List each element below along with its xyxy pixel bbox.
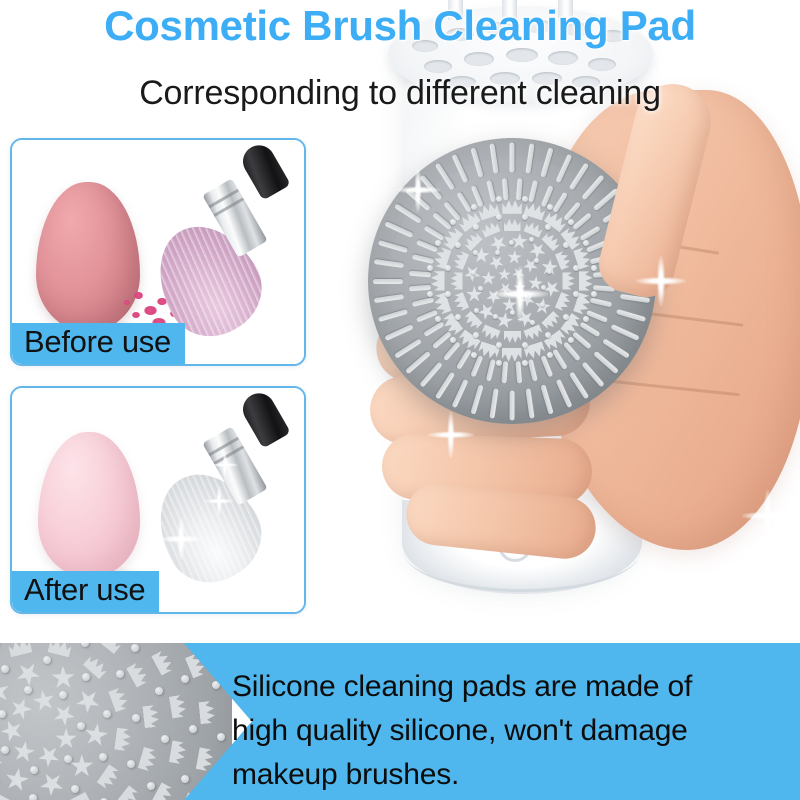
pad-dot-nub: [529, 237, 534, 242]
texture-star-nub: [29, 687, 58, 716]
texture-star-nub: [7, 695, 34, 722]
powder-residue: [124, 300, 130, 305]
texture-dot-nub: [155, 687, 163, 695]
pad-dot-nub: [445, 291, 451, 297]
page-subtitle: Corresponding to different cleaning: [0, 74, 800, 113]
texture-dot-nub: [43, 656, 51, 664]
texture-dot-nub: [71, 785, 79, 793]
texture-crown-nub: [108, 687, 130, 713]
texture-star-nub: [12, 740, 37, 765]
powder-residue: [134, 292, 143, 299]
texture-dot-nub: [1, 665, 9, 673]
pad-dot-nub: [450, 337, 456, 343]
banner-line-3: makeup brushes.: [232, 753, 772, 797]
bottom-feature-banner: Silicone cleaning pads are made of high …: [0, 643, 800, 800]
texture-star-nub: [48, 663, 78, 693]
texture-star-nub: [72, 684, 105, 717]
texture-crown-nub: [115, 728, 133, 752]
texture-dot-nub: [82, 673, 90, 681]
texture-dot-nub: [161, 735, 169, 743]
texture-crown-nub: [65, 792, 91, 800]
texture-crown-nub: [137, 747, 157, 772]
beauty-sponge-clean: [38, 432, 140, 578]
card-label-after: After use: [12, 571, 159, 612]
pad-dot-nub: [522, 360, 528, 366]
texture-dot-nub: [59, 691, 67, 699]
beauty-sponge-dirty: [36, 182, 140, 332]
texture-crown-nub: [151, 649, 175, 675]
texture-dot-nub: [116, 670, 124, 678]
texture-star-nub: [0, 676, 14, 708]
pad-ray: [510, 142, 515, 172]
pad-dot-nub: [473, 224, 479, 230]
texture-star-nub: [70, 754, 94, 778]
pad-dot-nub: [541, 285, 546, 290]
texture-dot-nub: [0, 710, 6, 718]
texture-crown-nub: [96, 764, 121, 791]
texture-crown-nub: [143, 704, 160, 728]
pad-dot-nub: [547, 352, 553, 358]
silicone-texture-thumbnail: [0, 643, 232, 800]
pad-dot-nub: [473, 332, 479, 338]
pad-dot-nub: [563, 242, 569, 248]
texture-crown-nub: [8, 643, 33, 657]
texture-dot-nub: [30, 766, 38, 774]
pad-dot-nub: [591, 291, 597, 297]
texture-star-nub: [0, 716, 27, 746]
pad-dot-nub: [435, 316, 441, 322]
card-label-before: Before use: [12, 323, 185, 364]
pad-dot-nub: [591, 265, 597, 271]
texture-dot-nub: [77, 722, 85, 730]
texture-dot-nub: [217, 733, 225, 741]
texture-crown-nub: [199, 700, 216, 723]
pad-dot-nub: [496, 360, 502, 366]
pad-dot-nub: [427, 265, 433, 271]
pad-dot-nub: [496, 196, 502, 202]
texture-dot-nub: [24, 686, 32, 694]
texture-crown-nub: [48, 643, 73, 658]
texture-dot-nub: [99, 753, 107, 761]
texture-dot-nub: [81, 643, 89, 647]
texture-dot-nub: [103, 710, 111, 718]
pad-dot-nub: [530, 320, 535, 325]
hand-holding-pad: [340, 60, 800, 580]
comparison-card-after: After use: [10, 386, 306, 614]
texture-dot-nub: [181, 675, 189, 683]
pad-dot-nub: [522, 214, 528, 220]
pad-dot-nub: [455, 242, 461, 248]
texture-crown-nub: [169, 694, 187, 718]
texture-star-nub: [33, 740, 64, 771]
pad-dot-nub: [547, 204, 553, 210]
comparison-card-before: Before use: [10, 138, 306, 366]
texture-dot-nub: [131, 644, 139, 652]
banner-line-1: Silicone cleaning pads are made of: [232, 665, 772, 709]
pad-dot-nub: [474, 308, 479, 313]
texture-star-nub: [55, 728, 77, 750]
pad-dot-nub: [568, 219, 574, 225]
texture-crown-nub: [126, 661, 150, 688]
texture-dot-nub: [64, 755, 72, 763]
pad-dot-nub: [509, 240, 514, 245]
texture-dot-nub: [189, 725, 197, 733]
texture-dot-nub: [181, 775, 189, 783]
makeup-brush-clean: [154, 392, 304, 592]
pad-dot-nub: [427, 291, 433, 297]
pad-ray: [510, 390, 515, 420]
texture-star-nub: [4, 767, 31, 794]
texture-dot-nub: [127, 760, 135, 768]
texture-dot-nub: [132, 714, 140, 722]
texture-crown-nub: [169, 740, 187, 764]
pad-dot-nub: [568, 337, 574, 343]
texture-star-nub: [50, 700, 79, 729]
texture-dot-nub: [147, 782, 155, 790]
texture-dot-nub: [1, 746, 9, 754]
pad-dot-nub: [522, 342, 528, 348]
texture-dot-nub: [29, 794, 37, 800]
banner-text: Silicone cleaning pads are made of high …: [232, 665, 772, 797]
product-marketing-image: Cosmetic Brush Cleaning Pad Correspondin…: [0, 0, 800, 800]
pad-dot-nub: [583, 316, 589, 322]
page-title: Cosmetic Brush Cleaning Pad: [0, 2, 800, 50]
texture-star-nub: [35, 767, 69, 800]
texture-star-nub: [82, 721, 109, 748]
banner-line-2: high quality silicone, won't damage: [232, 709, 772, 753]
pad-dot-nub: [522, 196, 528, 202]
texture-crown-nub: [96, 643, 123, 654]
pad-dot-nub: [493, 314, 498, 319]
makeup-brush-dirty: [154, 146, 304, 346]
texture-crown-nub: [0, 791, 14, 800]
powder-residue: [132, 312, 140, 318]
pad-dot-nub: [573, 291, 579, 297]
texture-crown-nub: [115, 785, 140, 800]
pad-ray: [373, 279, 403, 284]
